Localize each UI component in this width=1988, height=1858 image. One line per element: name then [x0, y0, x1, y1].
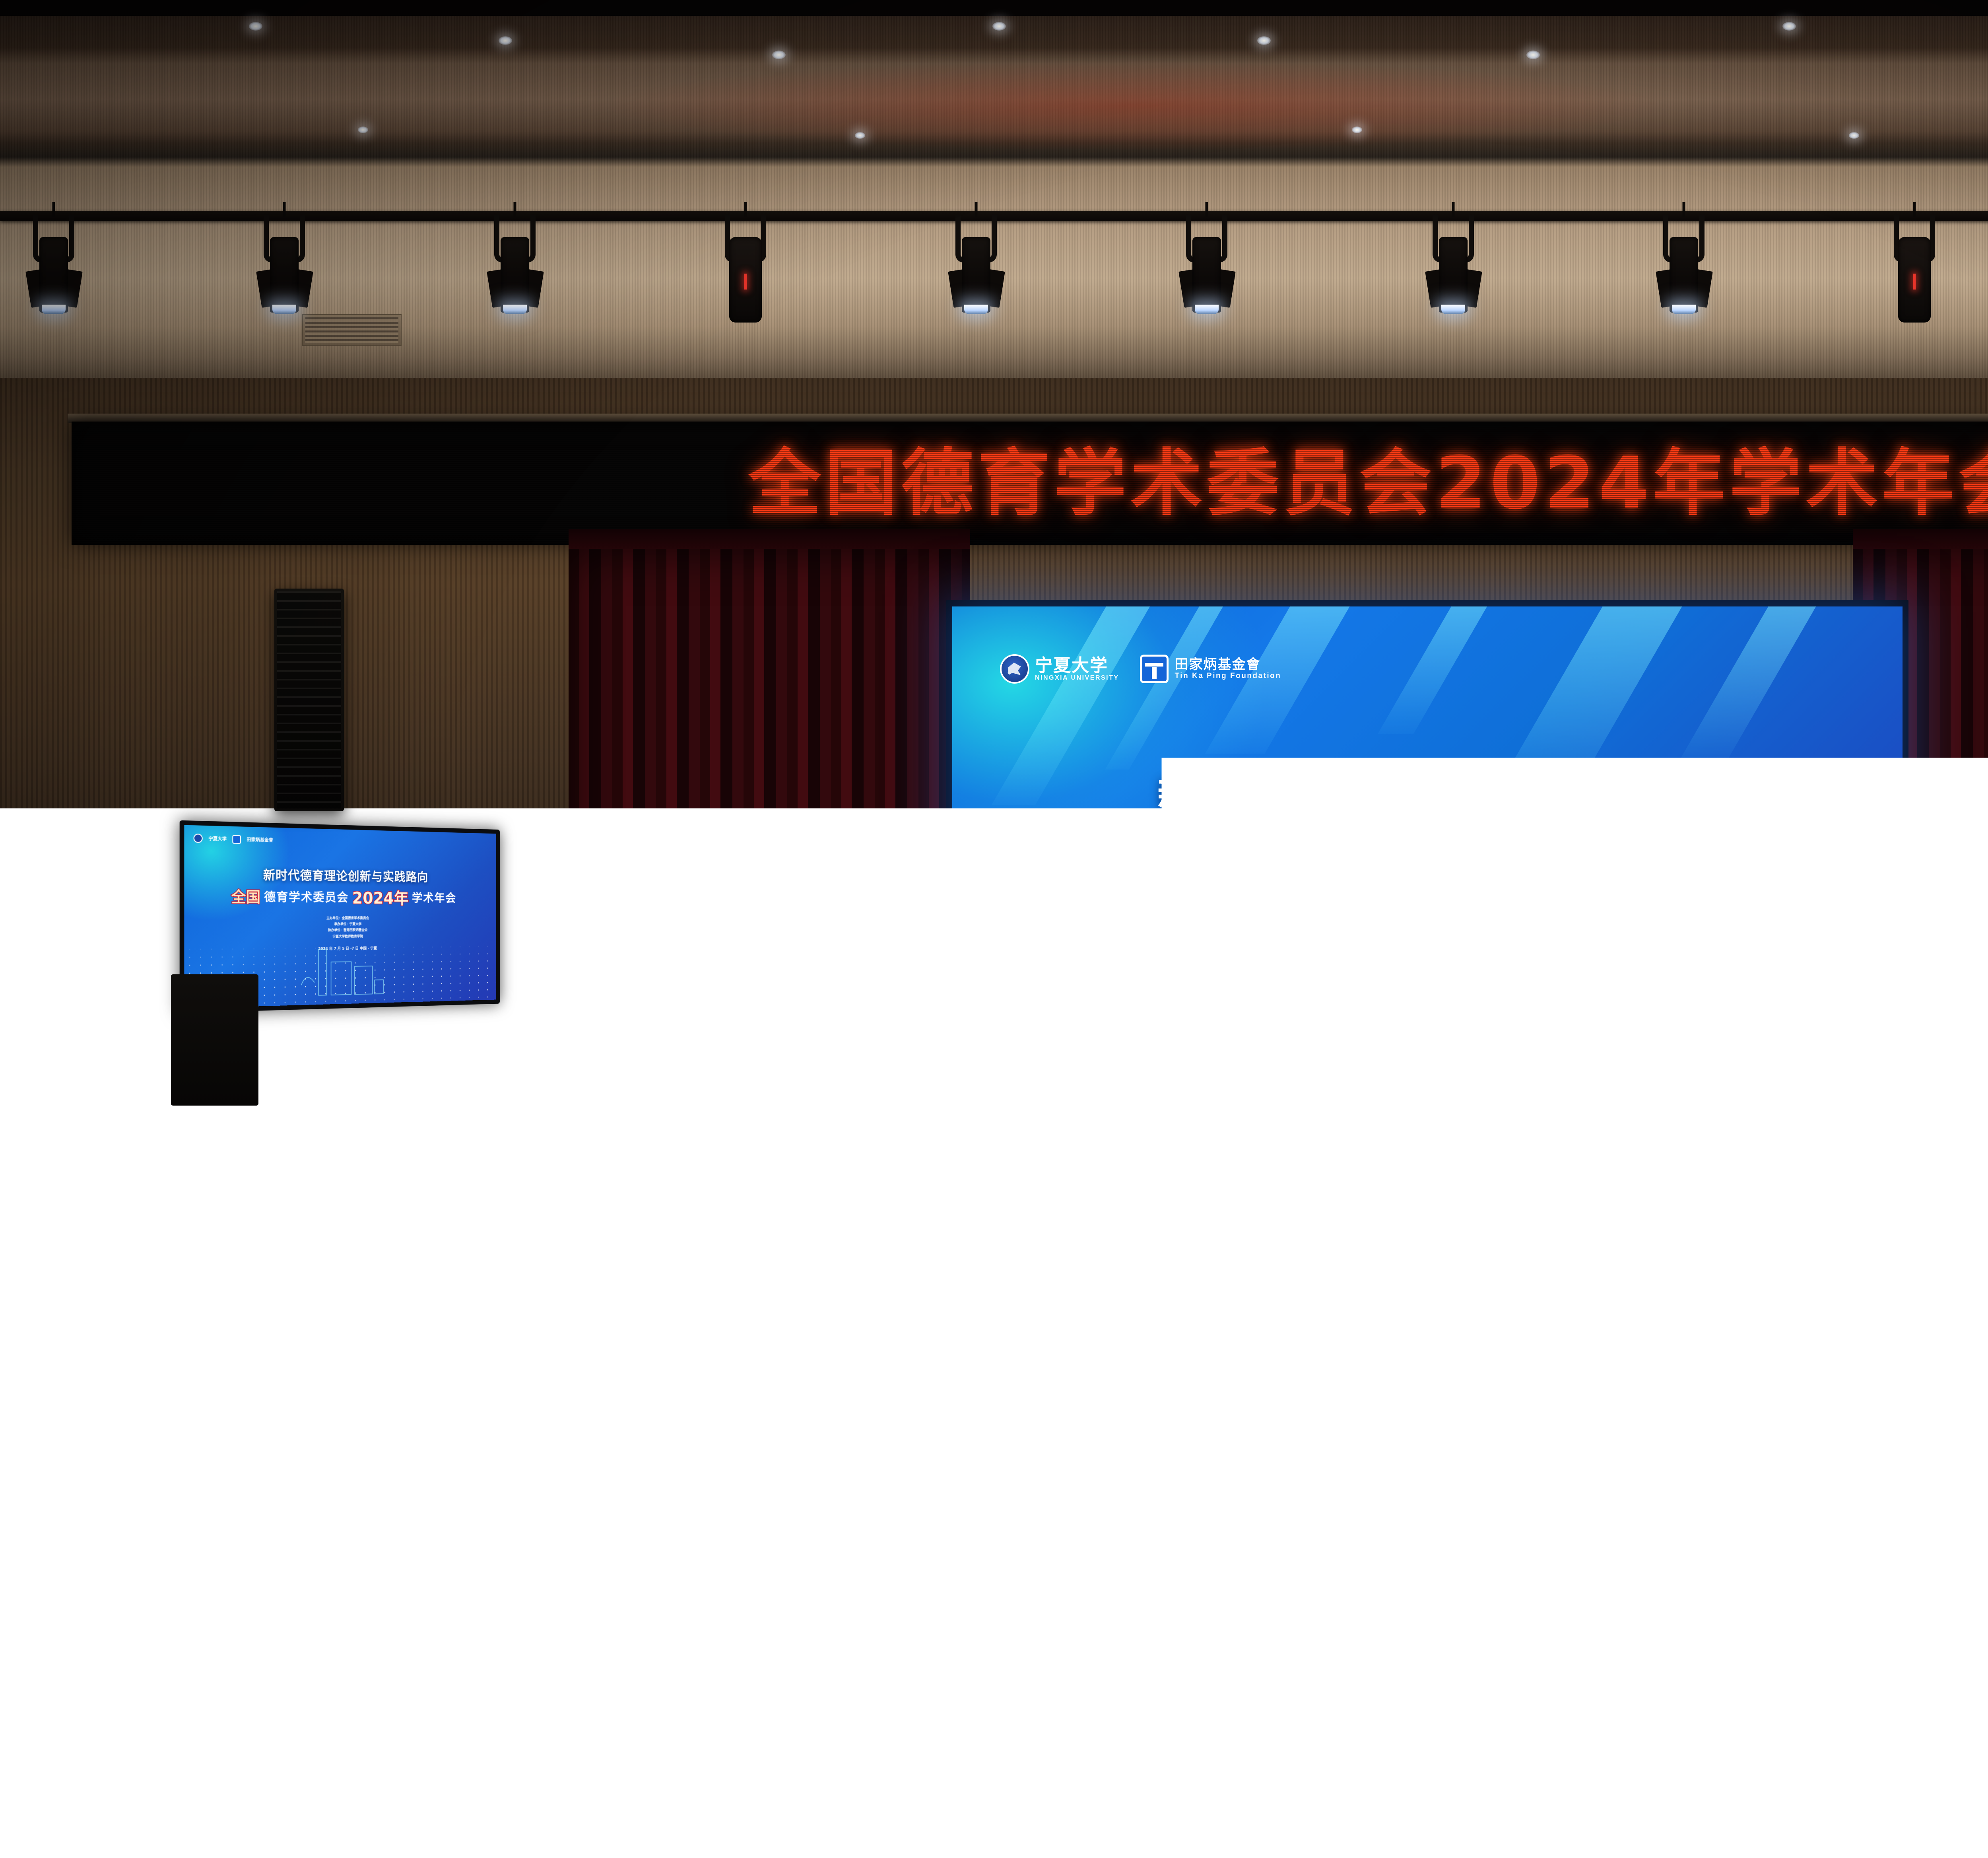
- attendee-head: [454, 1551, 500, 1608]
- banner-text: 全国德育学术委员会2024年学术年会: [749, 447, 1988, 519]
- attendee-head: [1136, 1681, 1199, 1760]
- monitor-logo-row: 宁夏大学 田家炳基金會: [194, 834, 273, 845]
- laptop: [929, 1350, 947, 1360]
- attendee-head: [1175, 1349, 1189, 1366]
- water-bottle: [952, 1465, 961, 1497]
- attendee-head: [1640, 1613, 1695, 1681]
- water-bottle: [1807, 1465, 1816, 1497]
- attendee-head: [702, 1367, 720, 1390]
- monitor-title-tail: 学术年会: [412, 889, 456, 906]
- attendee-head: [763, 1551, 809, 1608]
- ceiling-red-wash: [596, 60, 1670, 151]
- chair-arm: [1186, 1018, 1194, 1054]
- attendee-head: [523, 1349, 537, 1366]
- water-bottle: [119, 1338, 122, 1350]
- screen-title-row: 全国 德育学术委员会 2024年 学术年会: [952, 833, 1903, 907]
- water-bottle: [1515, 1353, 1520, 1369]
- chair-arm: [1469, 1018, 1477, 1054]
- attendee-head: [10, 1367, 28, 1390]
- light-body: [1192, 237, 1221, 313]
- water-bottle: [1535, 1420, 1543, 1446]
- water-bottle: [904, 1382, 910, 1403]
- water-bottle: [26, 1338, 29, 1350]
- attendee: [1018, 1754, 1199, 1858]
- ceiling-downlight: [1257, 36, 1271, 45]
- attendee-head: [1072, 1754, 1145, 1844]
- water-bottle: [1978, 1465, 1987, 1497]
- water-bottle: [1330, 1338, 1334, 1350]
- water-bottle: [580, 1353, 584, 1369]
- water-bottle: [305, 1338, 309, 1350]
- water-bottle: [1678, 1353, 1682, 1369]
- attendee-head: [1586, 1551, 1633, 1608]
- light-lens: [1672, 305, 1696, 314]
- water-bottle: [1579, 1338, 1582, 1350]
- attendee-head: [1792, 1551, 1839, 1608]
- attendee-head: [952, 1494, 990, 1541]
- water-bottle: [1551, 1465, 1560, 1497]
- water-bottle: [742, 1382, 748, 1403]
- attendee-head: [1037, 1494, 1076, 1541]
- attendee-head: [311, 1400, 335, 1430]
- flower-bloom: [843, 1133, 856, 1146]
- water-bottle: [376, 1353, 381, 1369]
- desk-name-placard: [1074, 1357, 1091, 1370]
- water-bottle: [1174, 1382, 1180, 1403]
- water-bottle: [57, 1338, 60, 1350]
- attendee-head: [439, 1494, 478, 1541]
- attendee-head: [1556, 1367, 1574, 1390]
- attendee-head: [895, 1349, 909, 1366]
- name-card: [1405, 1090, 1436, 1113]
- attendee-head: [1497, 1400, 1522, 1430]
- attendee-head: [1276, 1681, 1340, 1760]
- attendee-head: [1519, 1613, 1574, 1681]
- attendee-head: [914, 1443, 945, 1482]
- water-bottle: [569, 1420, 576, 1446]
- water-bottle: [867, 1465, 876, 1497]
- attendee-head: [1155, 1613, 1210, 1681]
- panelist-lanyard: [1501, 1062, 1520, 1090]
- water-bottle: [1719, 1353, 1723, 1369]
- ceiling-downlight: [358, 126, 368, 133]
- desk-name-placard: [714, 1341, 727, 1351]
- attendee-head: [458, 1367, 476, 1390]
- attendee-head: [376, 1367, 394, 1390]
- light-lens: [42, 305, 66, 314]
- attendee-head: [492, 1349, 506, 1366]
- attendee-torso: [872, 1837, 1024, 1858]
- attendee-head: [1072, 1551, 1118, 1608]
- attendee-head: [1604, 1443, 1635, 1482]
- university-name-en: NINGXIA UNIVERSITY: [1035, 675, 1119, 682]
- chair-arm: [1737, 1018, 1745, 1054]
- light-body: [501, 237, 529, 313]
- water-bottle: [212, 1338, 215, 1350]
- panelist-lanyard: [1770, 1062, 1788, 1090]
- ceiling-downlight: [1849, 132, 1859, 139]
- attendee-head: [1698, 1681, 1761, 1760]
- water-bottle: [51, 1353, 55, 1369]
- water-bottle: [1796, 1338, 1800, 1350]
- light-lens: [1441, 305, 1465, 314]
- flower-bloom: [872, 1115, 887, 1129]
- light-lens: [503, 305, 527, 314]
- attendee-head: [740, 1349, 754, 1366]
- water-bottle: [1551, 1382, 1557, 1403]
- attendee-head: [1294, 1494, 1332, 1541]
- attendee-head: [1982, 1349, 1988, 1366]
- flower-leaf: [822, 1156, 840, 1169]
- water-bottle: [173, 1353, 177, 1369]
- attendee-head: [336, 1367, 354, 1390]
- water-bottle: [1190, 1420, 1198, 1446]
- light-body: [962, 237, 990, 313]
- chair-arm: [1290, 1018, 1298, 1054]
- attendee-torso: [1353, 1837, 1506, 1858]
- panelist-lanyard: [1054, 1062, 1072, 1090]
- light-body: [729, 237, 762, 323]
- chair-arm: [1111, 1018, 1119, 1054]
- attendee-head: [1979, 1681, 1988, 1760]
- water-bottle: [638, 1420, 645, 1446]
- podium-flower-arrangement: [789, 1098, 916, 1169]
- attendee-head: [1398, 1613, 1452, 1681]
- attendee-head: [1978, 1494, 1988, 1541]
- attendee-head: [0, 1754, 21, 1844]
- chair-arm: [1812, 1018, 1820, 1054]
- water-bottle: [431, 1420, 438, 1446]
- water-bottle: [1742, 1420, 1750, 1446]
- monitor-title-middle: 德育学术委员会: [264, 888, 349, 905]
- flower-bloom: [886, 1143, 900, 1157]
- ningxia-university-logo: 宁夏大学 NINGXIA UNIVERSITY: [1000, 654, 1119, 684]
- attendee-torso: [1835, 1837, 1987, 1858]
- chair-arm: [1454, 1018, 1462, 1054]
- attendee-head: [1465, 1494, 1503, 1541]
- attendee-head: [1277, 1551, 1324, 1608]
- water-bottle: [1259, 1420, 1267, 1446]
- attendee-head: [1466, 1443, 1497, 1482]
- water-bottle: [1299, 1338, 1303, 1350]
- attendee-head: [1012, 1400, 1036, 1430]
- university-name-cn: 宁夏大学: [1035, 657, 1119, 675]
- water-bottle: [1929, 1382, 1935, 1403]
- panelist-lanyard: [1233, 1062, 1251, 1090]
- attendee-head: [796, 1400, 821, 1430]
- attendee-head: [669, 1613, 724, 1681]
- water-bottle: [41, 1382, 47, 1403]
- attendee-head: [1821, 1400, 1845, 1430]
- water-bottle: [10, 1353, 14, 1369]
- attendee-head: [580, 1400, 605, 1430]
- water-bottle: [132, 1353, 136, 1369]
- attendee-head: [1703, 1349, 1717, 1366]
- chair-arm: [1021, 1018, 1029, 1054]
- attendee-head: [257, 1400, 281, 1430]
- attendee-head: [1027, 1367, 1045, 1390]
- stage-light: [254, 215, 314, 334]
- attendee-head: [751, 1754, 824, 1844]
- attendee-head: [1548, 1349, 1562, 1366]
- attendee-head: [498, 1367, 516, 1390]
- water-bottle: [1548, 1338, 1551, 1350]
- water-bottle: [1109, 1353, 1113, 1369]
- name-card: [1226, 1090, 1257, 1113]
- attendee: [1660, 1754, 1841, 1858]
- water-bottle: [1480, 1079, 1487, 1105]
- attendee-head: [1963, 1367, 1981, 1390]
- water-bottle: [1294, 1465, 1303, 1497]
- chair-arm: [1096, 1018, 1104, 1054]
- water-bottle: [833, 1338, 837, 1350]
- water-bottle: [610, 1465, 619, 1497]
- attendee-head: [610, 1494, 649, 1541]
- desk-name-placard: [545, 1357, 562, 1370]
- attendee-torso: [1193, 1837, 1345, 1858]
- attendee-head: [1259, 1443, 1290, 1482]
- attendee-head: [473, 1400, 497, 1430]
- water-bottle: [1237, 1338, 1241, 1350]
- water-bottle: [1952, 1338, 1955, 1350]
- attendee-head: [354, 1494, 392, 1541]
- attendee-head: [1951, 1349, 1965, 1366]
- attendee-head: [1051, 1349, 1065, 1366]
- water-bottle: [1486, 1338, 1489, 1350]
- chair-arm: [1275, 1018, 1283, 1054]
- water-bottle: [986, 1353, 991, 1369]
- water-bottle: [1271, 1353, 1276, 1369]
- attendee-torso: [0, 1837, 61, 1858]
- university-seal-icon: [194, 834, 203, 843]
- water-bottle: [257, 1382, 263, 1403]
- water-bottle: [311, 1382, 317, 1403]
- attendee-head: [647, 1349, 661, 1366]
- attendee-head: [866, 1494, 905, 1541]
- university-wordmark: 宁夏大学 NINGXIA UNIVERSITY: [1035, 657, 1119, 682]
- flower-leaf: [909, 1130, 927, 1143]
- water-bottle: [527, 1382, 533, 1403]
- screen-title-year: 2024年: [1442, 833, 1638, 907]
- attendee-head: [1379, 1494, 1418, 1541]
- water-bottle: [1122, 1079, 1130, 1105]
- attendee-head: [912, 1754, 984, 1844]
- screen-streak-6: [1681, 606, 1830, 758]
- foundation-name-en: Tin Ka Ping Foundation: [1175, 672, 1281, 680]
- water-bottle: [1390, 1382, 1396, 1403]
- foundation-mark-icon: [1140, 655, 1169, 683]
- water-bottle: [1713, 1382, 1719, 1403]
- desk-name-placard: [1894, 1341, 1907, 1351]
- flower-leaf: [798, 1135, 812, 1146]
- water-bottle: [525, 1465, 534, 1497]
- name-card: [1136, 1090, 1167, 1113]
- attendee-head: [696, 1494, 734, 1541]
- water-bottle: [1748, 1079, 1756, 1105]
- desk-name-placard: [302, 1427, 332, 1448]
- light-status-led: [744, 274, 747, 290]
- attendee-head: [1721, 1494, 1760, 1541]
- panelist-lanyard: [1322, 1062, 1341, 1090]
- attendee-head: [1551, 1400, 1576, 1430]
- water-bottle: [1390, 1079, 1398, 1105]
- attendee-head: [781, 1494, 819, 1541]
- desk-name-placard: [1480, 1357, 1498, 1370]
- wall-sconce-left: [579, 946, 596, 978]
- water-bottle: [1113, 1338, 1116, 1350]
- ceiling-downlight: [1526, 51, 1540, 59]
- water-bottle: [1475, 1353, 1479, 1369]
- panelist-lanyard: [1680, 1062, 1699, 1090]
- attendee-head: [995, 1681, 1058, 1760]
- water-bottle: [864, 1353, 869, 1369]
- attendee-head: [1033, 1613, 1088, 1681]
- panelist-lanyard: [1143, 1062, 1162, 1090]
- water-bottle: [181, 1338, 184, 1350]
- water-bottle: [709, 1338, 712, 1350]
- attendee-head: [1282, 1400, 1306, 1430]
- attendee-head: [1949, 1443, 1980, 1482]
- stage-light: [1177, 215, 1237, 334]
- attendee-head: [1052, 1443, 1083, 1482]
- panelist-face: [1498, 1035, 1523, 1058]
- attendee-head: [1066, 1400, 1090, 1430]
- light-lens: [964, 305, 988, 314]
- foundation-name-cn: 田家炳基金會: [1175, 658, 1281, 672]
- attendee-head: [1895, 1551, 1942, 1608]
- attendee-head: [1175, 1551, 1221, 1608]
- attendee-head: [1237, 1349, 1251, 1366]
- water-bottle: [554, 1338, 557, 1350]
- water-bottle: [1498, 1382, 1504, 1403]
- water-bottle: [1209, 1465, 1218, 1497]
- flower-leaf: [784, 1129, 798, 1139]
- screen-streak-4: [1378, 606, 1501, 734]
- water-bottle: [1444, 1382, 1450, 1403]
- water-bottle: [1120, 1382, 1126, 1403]
- led-banner: 全国德育学术委员会2024年学术年会: [72, 422, 1988, 545]
- water-bottle: [1082, 1338, 1085, 1350]
- water-bottle: [461, 1338, 464, 1350]
- attendee-head: [1678, 1367, 1696, 1390]
- stage-light: [1423, 215, 1483, 334]
- water-bottle: [203, 1382, 209, 1403]
- attendee-head: [1228, 1400, 1252, 1430]
- water-bottle: [1659, 1079, 1666, 1105]
- water-bottle: [1175, 1338, 1178, 1350]
- water-bottle: [1380, 1465, 1389, 1497]
- chair-arm: [1722, 1018, 1730, 1054]
- attendee-head: [714, 1681, 777, 1760]
- panelist-lanyard: [1412, 1062, 1430, 1090]
- attendee-head: [1762, 1613, 1817, 1681]
- attendee-head: [958, 1400, 982, 1430]
- water-bottle: [419, 1382, 425, 1403]
- foundation-mark-icon: [232, 835, 241, 843]
- water-bottle: [354, 1465, 363, 1497]
- water-bottle: [1800, 1353, 1804, 1369]
- water-bottle: [91, 1353, 96, 1369]
- attendee-head: [1393, 1367, 1411, 1390]
- attendee-head: [351, 1551, 397, 1608]
- water-bottle: [1068, 1353, 1072, 1369]
- name-card: [1673, 1090, 1704, 1113]
- desk-name-placard: [1318, 1357, 1335, 1370]
- water-bottle: [740, 1338, 744, 1350]
- desk-name-placard: [1721, 1388, 1744, 1404]
- attendee-head: [1417, 1681, 1480, 1760]
- ceiling-downlight: [1782, 22, 1796, 31]
- water-bottle: [1821, 1382, 1827, 1403]
- water-bottle: [1361, 1338, 1365, 1350]
- stage-light: [1654, 215, 1714, 334]
- line-array-speaker-left: [274, 589, 344, 811]
- water-bottle: [1604, 1420, 1612, 1446]
- attendee-head: [125, 1416, 185, 1487]
- attendee-head: [833, 1349, 847, 1366]
- monitor-title-year: 2024年: [352, 885, 409, 908]
- name-card: [1763, 1090, 1794, 1113]
- attendee-head: [864, 1367, 883, 1390]
- water-bottle: [1610, 1338, 1613, 1350]
- name-card: [1494, 1090, 1525, 1113]
- water-bottle: [1606, 1382, 1611, 1403]
- water-bottle: [88, 1338, 91, 1350]
- water-bottle: [12, 1465, 21, 1497]
- water-bottle: [1211, 1079, 1219, 1105]
- attendee-head: [866, 1551, 912, 1608]
- water-bottle: [1734, 1338, 1738, 1350]
- chair-arm: [1543, 1018, 1551, 1054]
- attendee-head: [526, 1400, 551, 1430]
- water-bottle: [1038, 1465, 1047, 1497]
- foundation-wordmark: 田家炳基金會 Tin Ka Ping Foundation: [1175, 658, 1281, 680]
- water-bottle: [500, 1420, 507, 1446]
- university-seal-icon: [1000, 654, 1029, 684]
- name-card: [1315, 1090, 1346, 1113]
- attendee: [697, 1754, 878, 1858]
- head-table-chair: [1565, 1012, 1635, 1094]
- stage-curtain-left: [569, 549, 970, 1106]
- attendee-head: [295, 1367, 313, 1390]
- attendee-head: [1579, 1349, 1593, 1366]
- water-bottle: [1983, 1382, 1988, 1403]
- attendee-head: [1299, 1349, 1313, 1366]
- attendee-head: [661, 1367, 679, 1390]
- attendee-head: [11, 1681, 74, 1760]
- attendee-head: [1983, 1400, 1988, 1430]
- attendee-head: [132, 1367, 150, 1390]
- attendee-head: [461, 1349, 475, 1366]
- conference-folder[interactable]: [91, 1658, 211, 1790]
- water-bottle: [689, 1382, 695, 1403]
- ac-vent-left: [302, 314, 402, 346]
- ceiling-downlight: [992, 22, 1006, 31]
- attendee-torso: [712, 1837, 864, 1858]
- water-bottle: [1703, 1338, 1706, 1350]
- monitor-headline: 新时代德育理论创新与实践路向: [184, 863, 496, 885]
- water-bottle: [989, 1338, 992, 1350]
- water-bottle: [1123, 1465, 1132, 1497]
- attendee-torso: [551, 1837, 703, 1858]
- attendee-head: [548, 1613, 603, 1681]
- flower-vase: [840, 1164, 870, 1185]
- attendee-head: [1393, 1754, 1466, 1844]
- stage-light: [24, 215, 83, 334]
- screen-streak-5: [1497, 606, 1696, 789]
- water-bottle: [1636, 1465, 1645, 1497]
- water-bottle: [702, 1353, 706, 1369]
